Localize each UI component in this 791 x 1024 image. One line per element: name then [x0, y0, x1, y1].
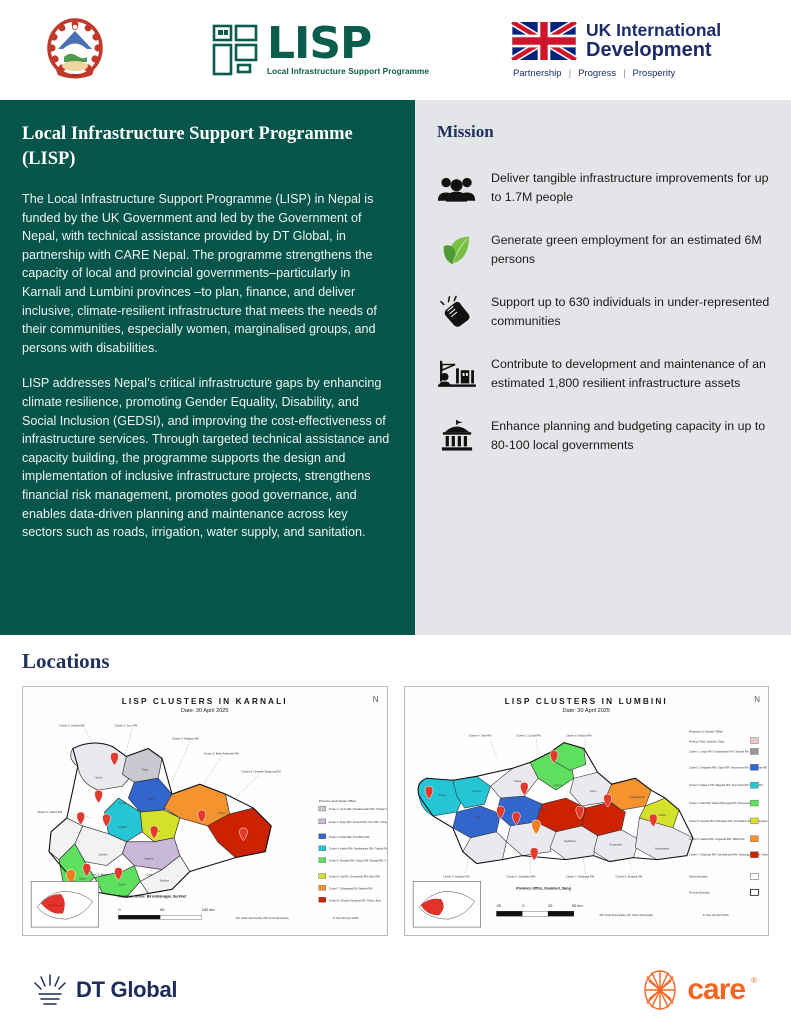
svg-text:50 km: 50 km [571, 903, 582, 908]
karnali-callout: Cluster 5: Bheri Pratinidhi RM [204, 751, 239, 755]
government-building-icon [435, 416, 479, 456]
lumbini-callout: Cluster 1: Lungri RM [516, 734, 540, 738]
karnali-legend-title: Province and Cluster Office [319, 799, 357, 803]
svg-text:Dang: Dang [474, 815, 481, 819]
page-footer: DT Global care ® [0, 955, 791, 1024]
svg-text:Jajarkot: Jajarkot [144, 857, 153, 861]
svg-text:District Boundary: District Boundary [688, 875, 708, 878]
nepal-government-emblem-icon: नेपाल [44, 17, 106, 83]
lumbini-legend: Province Office: Deukhuri, Dang Cluster … [688, 738, 768, 896]
nepal-emblem-logo: नेपाल [20, 17, 130, 83]
karnali-map-graphic: Cluster 1: Simikot RM Cluster 2: Soru RM… [23, 687, 387, 935]
lumbini-scale-bar: 25 0 25 50 km [496, 903, 583, 916]
care-starburst-icon [639, 968, 681, 1012]
dt-global-sunburst-icon [34, 973, 66, 1007]
karnali-callout: Cluster 3: Kalgaun RM [172, 737, 199, 741]
uk-tagline-prosperity: Prosperity [633, 68, 676, 79]
page-header: नेपाल LISP Local Infrastru [0, 0, 791, 100]
svg-text:Nawalparasi: Nawalparasi [655, 847, 670, 851]
svg-text:Cluster 8: Chharka Tangsong RM: Cluster 8: Chharka Tangsong RM / Rukum E… [329, 899, 381, 902]
svg-text:Pyuthan: Pyuthan [538, 807, 548, 811]
care-wordmark: care [687, 973, 745, 1007]
dt-global-wordmark: DT Global [76, 977, 177, 1003]
mission-item-text: Enhance planning and budgeting capacity … [491, 416, 773, 454]
svg-text:Rukum: Rukum [554, 783, 562, 787]
svg-text:Cluster 1: Jumla RM / Kanakasu: Cluster 1: Jumla RM / Kanakasundari RM /… [329, 808, 387, 811]
svg-text:नेपाल: नेपाल [71, 73, 80, 78]
svg-text:100 km: 100 km [202, 907, 216, 912]
svg-text:Dailekh: Dailekh [118, 825, 127, 829]
locations-heading: Locations [22, 649, 769, 674]
care-logo: care ® [639, 968, 757, 1012]
uk-international-development-logo: UK International Development Partnership… [511, 21, 771, 79]
svg-text:Cluster 2: Mugu RM / Khatyad R: Cluster 2: Mugu RM / Khatyad RM / Soru R… [329, 821, 387, 824]
svg-text:Arghakhanchi: Arghakhanchi [629, 795, 645, 799]
karnali-legend: Cluster 1: Jumla RM / Kanakasundari RM /… [319, 806, 387, 902]
svg-text:Banke: Banke [438, 793, 446, 797]
mission-item: Support up to 630 individuals in under-r… [435, 292, 773, 332]
uk-tagline: Partnership | Progress | Prosperity [511, 68, 771, 79]
svg-text:Cluster 3: Dolpa RM / Thuli Bh: Cluster 3: Dolpa RM / Thuli Bheri RM [329, 836, 370, 839]
svg-text:50: 50 [160, 907, 165, 912]
svg-text:Cluster 7: Chhedagad RM / Bare: Cluster 7: Chhedagad RM / Barekot RM [329, 887, 373, 890]
svg-text:Cluster 4: Kalikot RM / Naraha: Cluster 4: Kalikot RM / Naraharinath RM … [329, 848, 387, 851]
lisp-wordmark: LISP [267, 24, 429, 64]
mission-item: Generate green employment for an estimat… [435, 230, 773, 270]
svg-text:Bardiya: Bardiya [472, 789, 481, 793]
locations-section: Locations LISP CLUSTERS IN KARNALI Date:… [0, 635, 791, 936]
svg-text:Cluster 6: Tila RM / Junichand: Cluster 6: Tila RM / Junichande RM / Bhe… [329, 875, 380, 878]
svg-text:Karnali Province: Karnali Province [48, 905, 65, 907]
karnali-inset-map: Karnali Province [31, 881, 98, 927]
karnali-footer-note: UM: Urban Municipality, RM: Rural Munici… [236, 916, 290, 920]
lumbini-legend-title: Province & Cluster Office [688, 730, 722, 734]
karnali-callout: Cluster 1: Simikot RM [59, 724, 85, 728]
raised-fist-icon [435, 292, 479, 332]
uk-tagline-progress: Progress [578, 68, 616, 79]
svg-text:Cluster 1: Lungri RM / Sunachh: Cluster 1: Lungri RM / Sunachhahari RM /… [688, 750, 748, 753]
lumbini-map[interactable]: LISP CLUSTERS IN LUMBINI Date: 30 April … [404, 686, 770, 936]
svg-text:25: 25 [496, 903, 501, 908]
mission-item-text: Generate green employment for an estimat… [491, 230, 773, 268]
content-panels: Local Infrastructure Support Programme (… [0, 100, 791, 635]
svg-text:Cluster 6: Nauibot RM / Kolgan: Cluster 6: Nauibot RM / Kolgandhi RM / M… [688, 838, 744, 841]
svg-text:Palpa: Palpa [659, 813, 666, 817]
karnali-callout: Cluster 4: Kalikot RM [37, 810, 62, 814]
lumbini-footer-date: R: New (30 April 2025) [702, 913, 728, 917]
lumbini-footer-note: RM: Rural Municipality, UM: Urban Munici… [599, 913, 653, 917]
svg-text:Gulmi: Gulmi [589, 789, 596, 793]
mission-item-text: Support up to 630 individuals in under-r… [491, 292, 773, 330]
svg-text:Salyan: Salyan [79, 876, 87, 880]
svg-text:Cluster 4: Siwa RM / Kalika Ni: Cluster 4: Siwa RM / Kalika Nilkanyaga R… [688, 802, 756, 805]
mission-heading: Mission [437, 122, 773, 142]
svg-text:Surkhet: Surkhet [99, 853, 108, 857]
union-jack-flag-icon [511, 22, 577, 60]
svg-text:Dolpa: Dolpa [148, 797, 155, 801]
lumbini-callout: Cluster 7: Shirganja RM [565, 874, 593, 878]
mission-panel: Mission Deliver tangible infrastructure … [415, 100, 791, 635]
svg-text:Kapilbastu: Kapilbastu [563, 839, 576, 843]
lumbini-province-office: Province Office, Deukhuri, Dang [516, 886, 570, 890]
programme-paragraph-2: LISP addresses Nepal’s critical infrastr… [22, 374, 391, 541]
programme-title: Local Infrastructure Support Programme (… [22, 122, 391, 172]
lisp-tagline: Local Infrastructure Support Programme [267, 67, 429, 76]
svg-text:Province Office: Deukhuri, Dan: Province Office: Deukhuri, Dang [688, 741, 724, 744]
svg-text:Province Boundary: Province Boundary [688, 891, 710, 894]
programme-description-panel: Local Infrastructure Support Programme (… [0, 100, 415, 635]
dt-global-logo: DT Global [34, 973, 177, 1007]
karnali-callout: Cluster 8: Chharka Tangsong RM [241, 769, 280, 773]
people-group-icon [435, 168, 479, 208]
lumbini-callout: Cluster 5: Sarawal RM [615, 874, 642, 878]
lumbini-map-graphic: Cluster 4: Siwa RM Cluster 1: Lungri RM … [405, 687, 769, 935]
mission-list: Deliver tangible infrastructure improvem… [435, 168, 773, 456]
mission-item: Enhance planning and budgeting capacity … [435, 416, 773, 456]
svg-text:0: 0 [118, 907, 121, 912]
lisp-grid-mark-icon [212, 24, 260, 76]
lumbini-callout: Cluster 3: Kalaiyar RM [442, 874, 469, 878]
svg-text:Rupandehi: Rupandehi [609, 843, 622, 847]
svg-text:25: 25 [548, 903, 553, 908]
svg-text:0: 0 [522, 903, 525, 908]
svg-text:Jumla: Jumla [118, 801, 125, 805]
lisp-logo: LISP Local Infrastructure Support Progra… [130, 24, 511, 76]
programme-paragraph-1: The Local Infrastructure Support Program… [22, 190, 391, 357]
svg-text:Mugu: Mugu [142, 767, 149, 771]
uk-tagline-partnership: Partnership [513, 68, 562, 79]
green-leaf-icon [435, 230, 479, 270]
karnali-map[interactable]: LISP CLUSTERS IN KARNALI Date: 30 April … [22, 686, 388, 936]
mission-item-text: Deliver tangible infrastructure improvem… [491, 168, 773, 206]
svg-text:Rukum: Rukum [218, 811, 226, 815]
svg-text:Banke: Banke [118, 882, 126, 886]
uk-logo-line2: Development [586, 40, 721, 61]
construction-crane-icon [435, 354, 479, 394]
maps-row: LISP CLUSTERS IN KARNALI Date: 30 April … [22, 686, 769, 936]
lumbini-callout: Cluster 2: Sanglabat RM [506, 874, 535, 878]
uk-tagline-sep2: | [623, 68, 625, 79]
svg-text:Rolpa: Rolpa [514, 779, 521, 783]
karnali-scale-bar: 0 50 100 km [118, 907, 215, 919]
karnali-province-office: Province Office: Birendranagar, Surkhet [118, 894, 187, 898]
svg-text:Bardiya: Bardiya [160, 878, 169, 882]
svg-text:Humla: Humla [95, 775, 103, 779]
karnali-callout: Cluster 2: Soru RM [114, 724, 137, 728]
karnali-footer-date: R: New (30 April 2025) [333, 916, 359, 920]
mission-item: Contribute to development and maintenanc… [435, 354, 773, 394]
svg-text:Cluster 5: Sharada RM / Salyan: Cluster 5: Sharada RM / Salyan RM / Bang… [329, 860, 387, 863]
care-registered-mark: ® [751, 976, 757, 985]
lumbini-inset-map [413, 881, 480, 927]
mission-item-text: Contribute to development and maintenanc… [491, 354, 773, 392]
lumbini-callout: Cluster 4: Siwa RM [468, 734, 491, 738]
uk-logo-line1: UK International [586, 21, 721, 40]
uk-tagline-sep1: | [569, 68, 571, 79]
lumbini-callout: Cluster 6: Naubot RM [565, 734, 591, 738]
mission-item: Deliver tangible infrastructure improvem… [435, 168, 773, 208]
